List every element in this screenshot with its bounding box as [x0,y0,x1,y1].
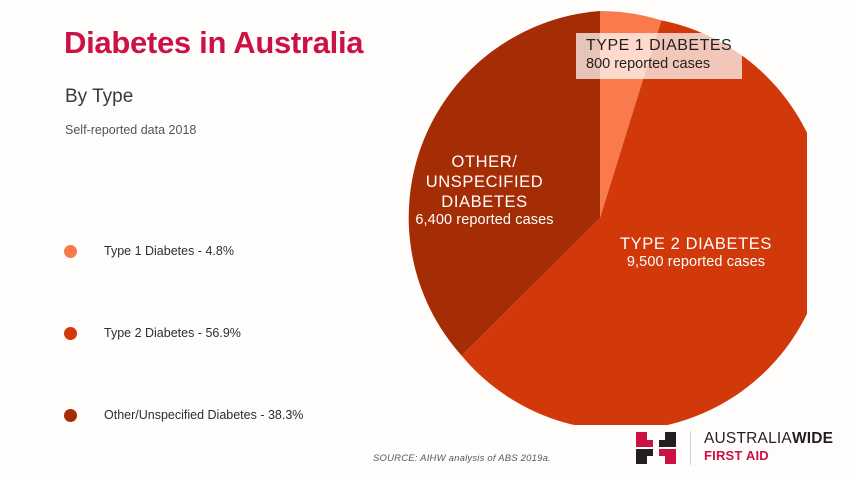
source-attribution: SOURCE: AIHW analysis of ABS 2019a. [373,453,551,464]
chart-legend: Type 1 Diabetes - 4.8% Type 2 Diabetes -… [64,238,394,484]
legend-item-other: Other/Unspecified Diabetes - 38.3% [64,402,394,428]
logo-brand-bold: WIDE [792,430,833,447]
slice-callout-type-1: TYPE 1 DIABETES 800 reported cases [576,33,742,79]
legend-item-label: Type 2 Diabetes - 56.9% [104,326,241,340]
logo-divider [690,431,691,465]
legend-swatch-icon [64,245,77,258]
brand-logo: AUSTRALIAWIDE FIRST AID [634,428,854,468]
legend-item-label: Type 1 Diabetes - 4.8% [104,244,234,258]
legend-item-type-2: Type 2 Diabetes - 56.9% [64,320,394,346]
slice-callout-title: TYPE 1 DIABETES [586,36,732,56]
legend-swatch-icon [64,409,77,422]
legend-item-type-1: Type 1 Diabetes - 4.8% [64,238,394,264]
page-title: Diabetes in Australia [64,25,363,61]
australia-wide-cross-icon [634,428,678,468]
legend-item-label: Other/Unspecified Diabetes - 38.3% [104,408,303,422]
logo-brand-regular: AUSTRALIA [704,430,792,447]
logo-brand-line: AUSTRALIAWIDE [704,430,833,447]
logo-tagline: FIRST AID [704,448,769,463]
legend-swatch-icon [64,327,77,340]
page-subtitle: By Type [65,86,133,108]
slice-callout-cases: 800 reported cases [586,56,732,74]
logo-wordmark: AUSTRALIAWIDE FIRST AID [704,431,854,465]
data-note: Self-reported data 2018 [65,123,196,137]
infographic-canvas: Diabetes in Australia By Type Self-repor… [0,0,854,480]
